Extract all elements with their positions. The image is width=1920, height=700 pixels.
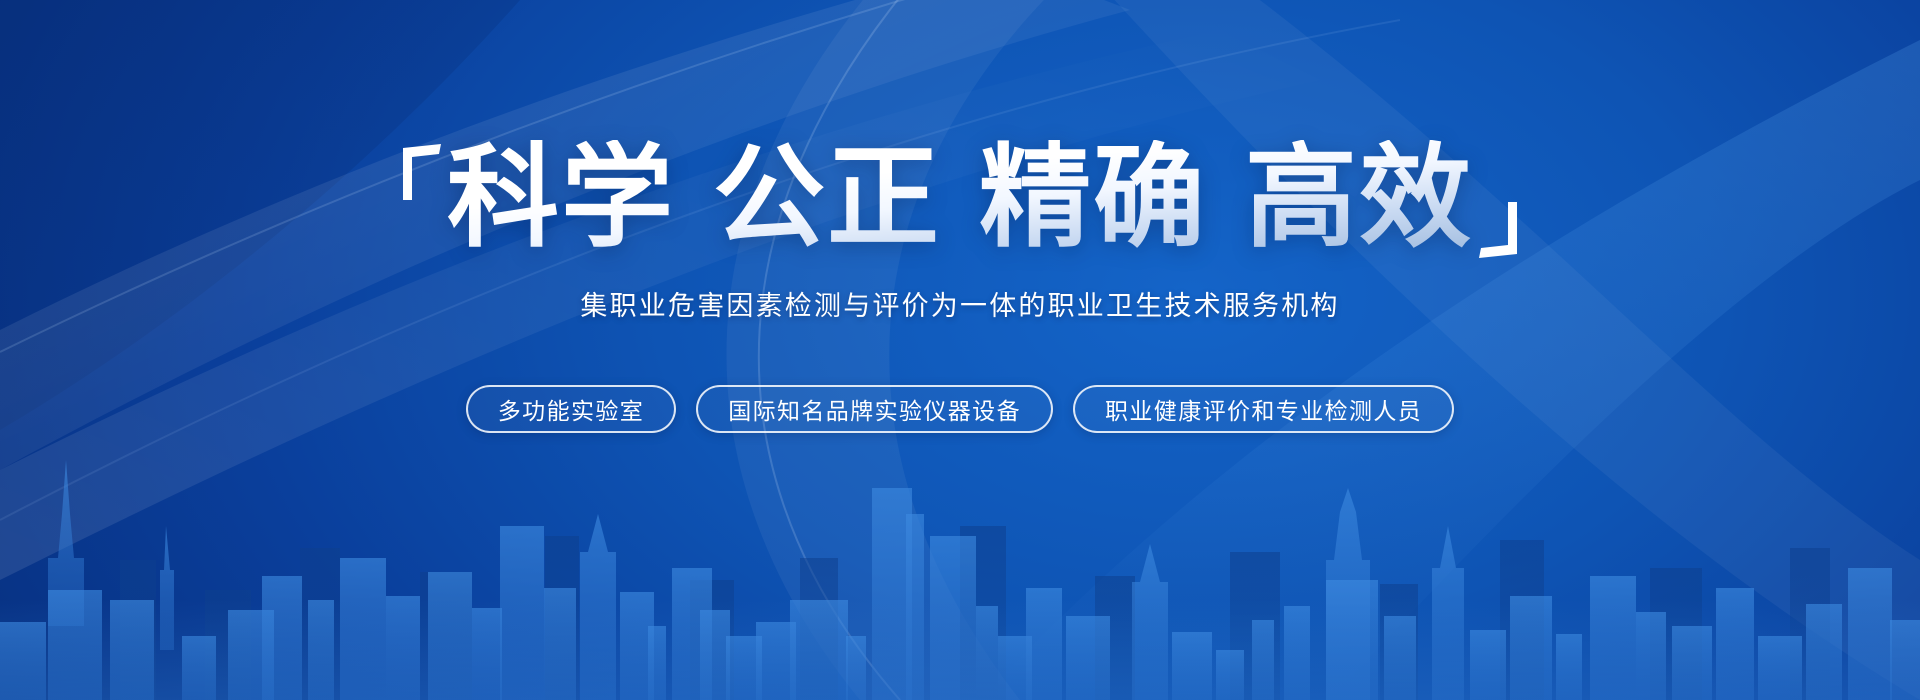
- feature-pill-list: 多功能实验室 国际知名品牌实验仪器设备 职业健康评价和专业检测人员: [466, 385, 1454, 433]
- headline-word-1: 科学: [447, 133, 675, 263]
- headline-word-4: 高效: [1245, 133, 1473, 263]
- feature-pill-instruments[interactable]: 国际知名品牌实验仪器设备: [696, 385, 1053, 433]
- headline-word-3: 精确: [979, 133, 1207, 263]
- feature-pill-personnel[interactable]: 职业健康评价和专业检测人员: [1073, 385, 1454, 433]
- feature-pill-lab[interactable]: 多功能实验室: [466, 385, 676, 433]
- banner-subtitle: 集职业危害因素检测与评价为一体的职业卫生技术服务机构: [580, 284, 1339, 323]
- corner-bracket-open-icon: [399, 142, 443, 262]
- headline-word-2: 公正: [713, 133, 941, 263]
- corner-bracket-close-icon: [1477, 140, 1521, 260]
- hero-banner: 科学公正精确高效 集职业危害因素检测与评价为一体的职业卫生技术服务机构 多功能实…: [0, 0, 1920, 700]
- headline-row: 科学公正精确高效: [399, 140, 1521, 262]
- headline-text: 科学公正精确高效: [447, 140, 1473, 258]
- banner-content: 科学公正精确高效 集职业危害因素检测与评价为一体的职业卫生技术服务机构 多功能实…: [0, 0, 1920, 700]
